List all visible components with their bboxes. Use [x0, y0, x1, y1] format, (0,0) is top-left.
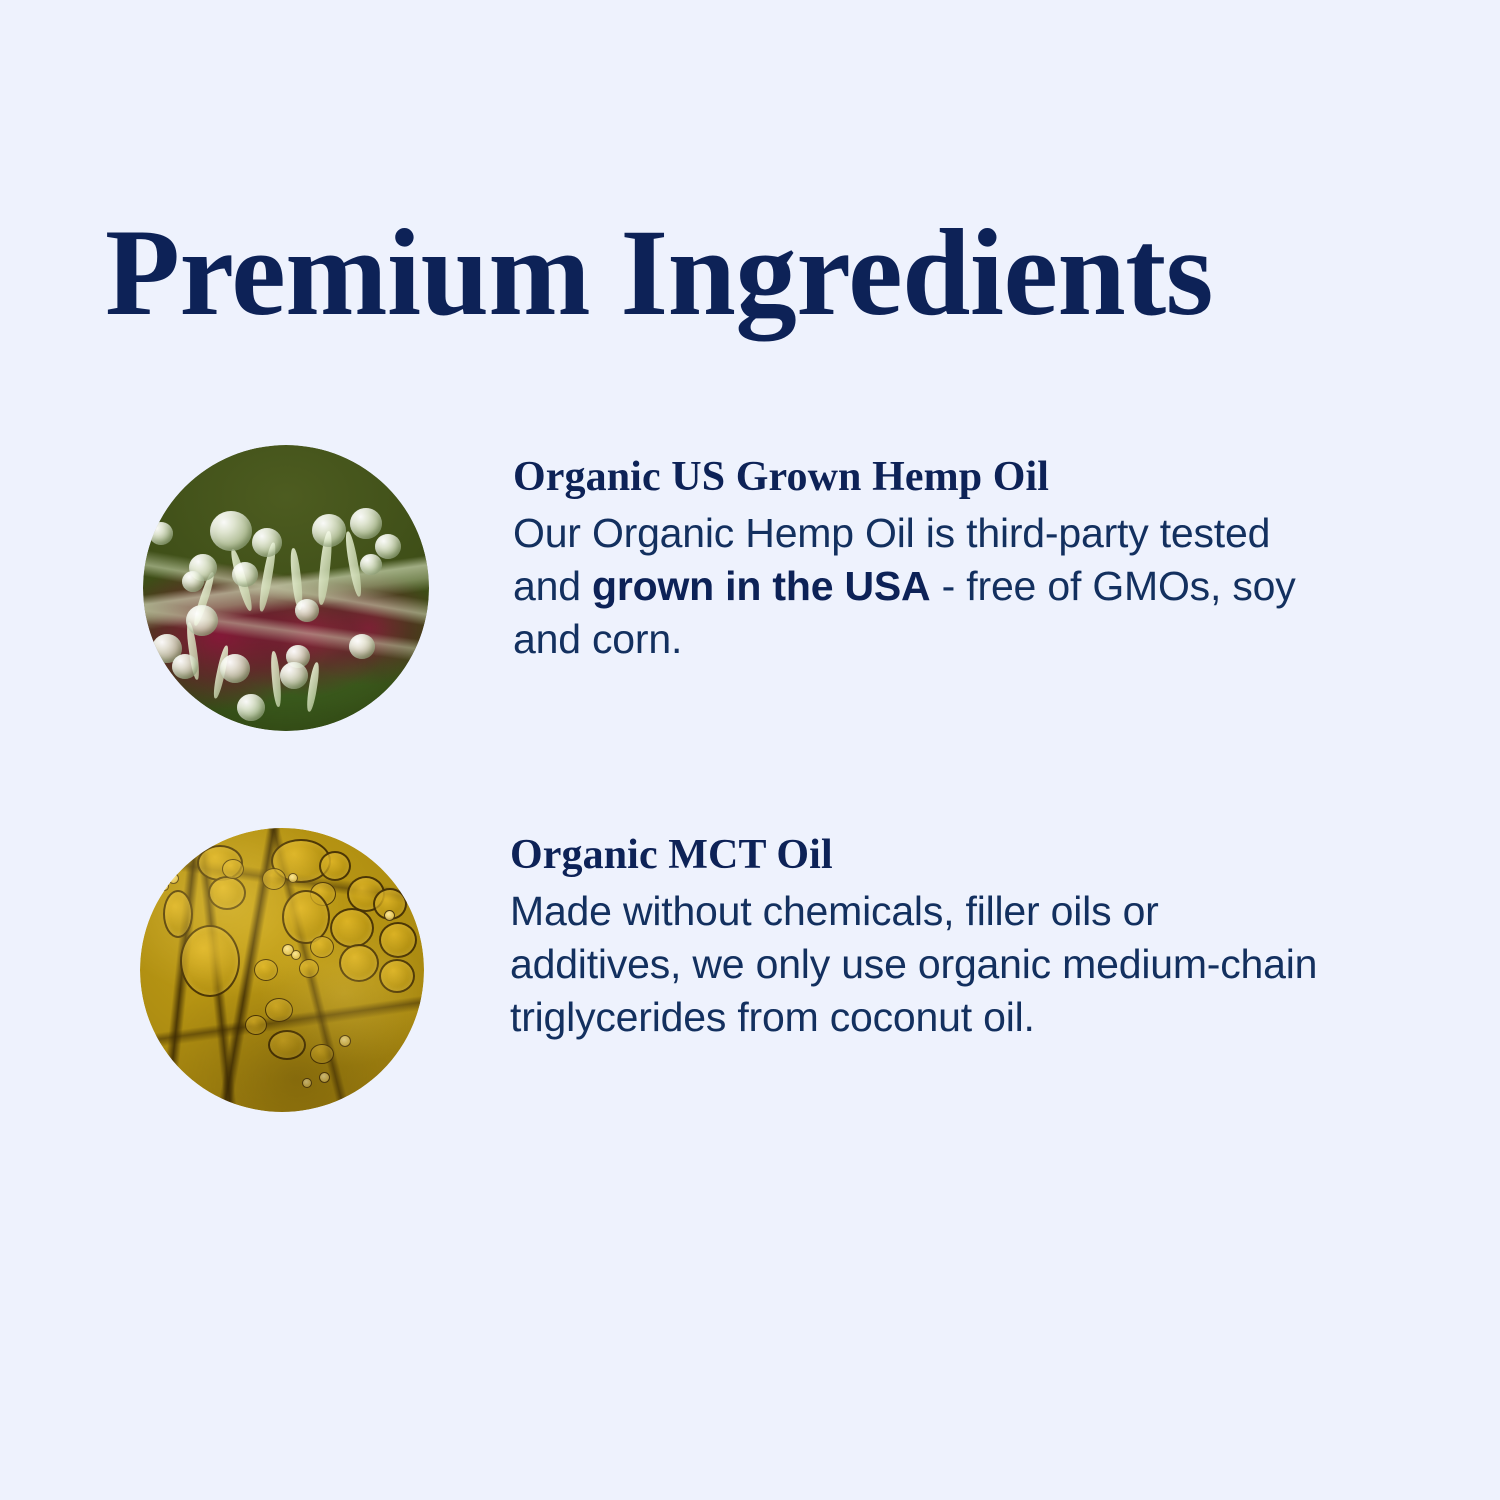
mct-oil-image — [140, 828, 424, 1112]
mct-oil-copy: Organic MCT Oil Made without chemicals, … — [510, 828, 1320, 1045]
oil-sheen-layer — [140, 828, 424, 1112]
mct-oil-heading: Organic MCT Oil — [510, 832, 1320, 880]
ingredient-row-mct-oil: Organic MCT Oil Made without chemicals, … — [140, 828, 1320, 1112]
mct-oil-description: Made without chemicals, filler oils or a… — [510, 885, 1320, 1045]
ingredients-page: Premium Ingredients — [0, 0, 1500, 1500]
ingredient-row-hemp-oil: Organic US Grown Hemp Oil Our Organic He… — [143, 445, 1323, 731]
hemp-trichome-layer — [143, 445, 429, 731]
hemp-oil-image — [143, 445, 429, 731]
page-title: Premium Ingredients — [105, 211, 1213, 335]
hemp-oil-description: Our Organic Hemp Oil is third-party test… — [513, 507, 1323, 667]
hemp-oil-copy: Organic US Grown Hemp Oil Our Organic He… — [513, 445, 1323, 667]
hemp-oil-heading: Organic US Grown Hemp Oil — [513, 454, 1323, 502]
